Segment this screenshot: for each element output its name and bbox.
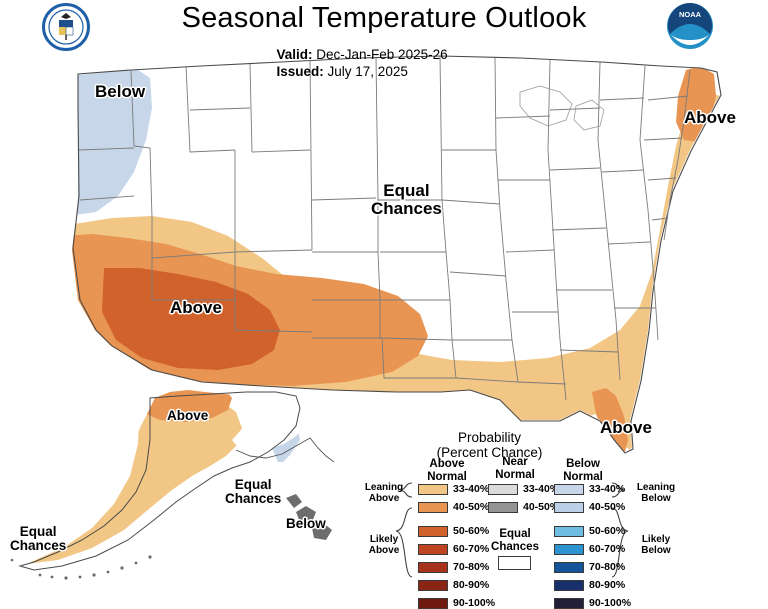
map-label-north-central-equal-chances: Equal Chances — [371, 182, 442, 218]
valid-value: Dec-Jan-Feb 2025-26 — [316, 47, 447, 62]
legend-above-normal-label-40-50: 40-50% — [453, 501, 489, 513]
legend-near-normal-swatch-40-50 — [488, 502, 518, 513]
legend-above-normal-swatch-40-50 — [418, 502, 448, 513]
seasonal-temperature-outlook-map: Seasonal Temperature Outlook Valid: Dec-… — [0, 0, 768, 593]
legend-below-normal-swatch-40-50 — [554, 502, 584, 513]
legend-title-line1: Probability — [352, 430, 627, 445]
issued-label: Issued: — [277, 64, 324, 79]
legend-below-normal-label-90-100: 90-100% — [589, 597, 631, 609]
valid-line: Valid: Dec-Jan-Feb 2025-26 — [0, 47, 768, 62]
legend-above-normal-swatch-50-60 — [418, 526, 448, 537]
department-of-commerce-seal — [42, 3, 90, 51]
legend-above-normal-swatch-33-40 — [418, 484, 448, 495]
legend-below-normal-label-33-40: 33-40% — [589, 483, 625, 495]
legend-bracket-likely-below: Likely Below — [628, 534, 684, 556]
noaa-logo-text: NOAA — [679, 10, 702, 19]
legend-below-normal-swatch-33-40 — [554, 484, 584, 495]
legend-above-normal-swatch-70-80 — [418, 562, 448, 573]
map-label-southwest-above: Above — [170, 299, 222, 317]
legend-bracket-leaning-below: Leaning Below — [628, 482, 684, 504]
map-label-pacific-northwest-below: Below — [95, 83, 145, 101]
legend-below-normal-label-70-80: 70-80% — [589, 561, 625, 573]
map-label-hawaii-equal-chances: Equal Chances — [10, 525, 66, 553]
legend-below-normal-label-40-50: 40-50% — [589, 501, 625, 513]
legend-above-normal-label-70-80: 70-80% — [453, 561, 489, 573]
issued-value: July 17, 2025 — [328, 64, 408, 79]
legend-below-normal-swatch-90-100 — [554, 598, 584, 609]
legend-column-below-normal: Below Normal — [548, 458, 618, 484]
legend-above-normal-swatch-60-70 — [418, 544, 448, 555]
noaa-logo: NOAA — [666, 2, 714, 50]
legend-below-normal-swatch-60-70 — [554, 544, 584, 555]
legend-below-normal-label-50-60: 50-60% — [589, 525, 625, 537]
legend-equal-chances-swatch — [498, 556, 531, 570]
legend-below-normal-swatch-70-80 — [554, 562, 584, 573]
legend-above-normal-swatch-80-90 — [418, 580, 448, 591]
legend-below-normal-swatch-50-60 — [554, 526, 584, 537]
legend-equal-chances-label: Equal Chances — [480, 528, 550, 554]
page-title: Seasonal Temperature Outlook — [0, 2, 768, 35]
probability-legend: Probability (Percent Chance) Above Norma… — [352, 430, 682, 590]
legend-above-normal-swatch-90-100 — [418, 598, 448, 609]
legend-near-normal-swatch-33-40 — [488, 484, 518, 495]
map-label-alaska-equal-chances: Equal Chances — [225, 478, 281, 506]
legend-column-near-normal: Near Normal — [482, 456, 548, 482]
valid-label: Valid: — [277, 47, 313, 62]
legend-above-normal-label-33-40: 33-40% — [453, 483, 489, 495]
legend-below-normal-label-80-90: 80-90% — [589, 579, 625, 591]
legend-above-normal-label-80-90: 80-90% — [453, 579, 489, 591]
legend-bracket-leaning-above: Leaning Above — [356, 482, 412, 504]
map-label-maine-above: Above — [684, 109, 736, 127]
legend-column-above-normal: Above Normal — [412, 458, 482, 484]
legend-above-normal-label-90-100: 90-100% — [453, 597, 495, 609]
map-label-alaska-panhandle-below: Below — [286, 517, 326, 531]
legend-below-normal-label-60-70: 60-70% — [589, 543, 625, 555]
hawaii-inset — [11, 559, 24, 568]
legend-below-normal-swatch-80-90 — [554, 580, 584, 591]
map-label-alaska-above: Above — [167, 409, 208, 423]
issued-line: Issued: July 17, 2025 — [0, 64, 768, 79]
legend-bracket-likely-above: Likely Above — [356, 534, 412, 556]
